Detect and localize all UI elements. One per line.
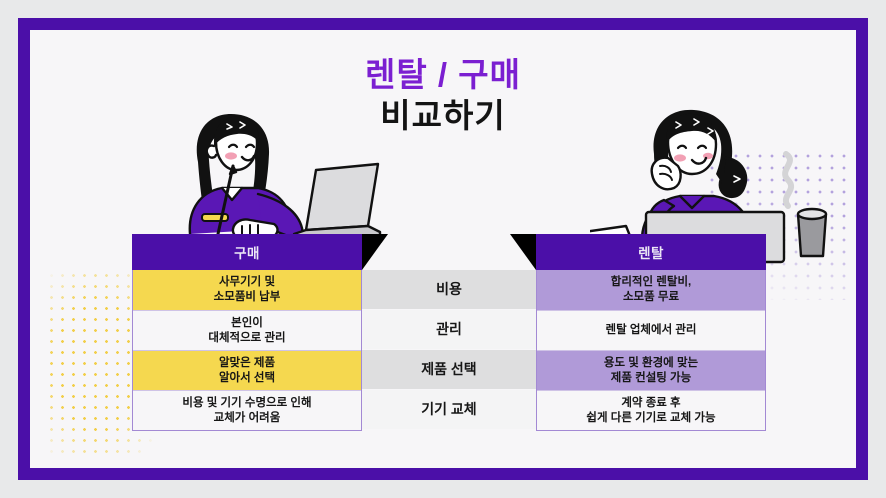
- table-cell-rental-cost: 합리적인 렌탈비, 소모품 무료: [537, 270, 765, 310]
- column-rental: 합리적인 렌탈비, 소모품 무료 렌탈 업체에서 관리 용도 및 환경에 맞는 …: [536, 270, 766, 431]
- title-line-secondary: 비교하기: [30, 95, 856, 136]
- table-cell-rental-select: 용도 및 환경에 맞는 제품 컨설팅 가능: [537, 350, 765, 390]
- slide-content-area: 렌탈 / 구매 비교하기: [30, 30, 856, 468]
- column-criteria: 비용 관리 제품 선택 기기 교체: [362, 270, 536, 431]
- table-criteria-select: 제품 선택: [362, 350, 536, 390]
- table-header-purchase-label: 구매: [132, 234, 362, 270]
- desk-edge-right: [510, 234, 536, 270]
- column-purchase: 사무기기 및 소모품비 납부 본인이 대체적으로 관리 알맞은 제품 알아서 선…: [132, 270, 362, 431]
- table-cell-purchase-select: 알맞은 제품 알아서 선택: [133, 350, 361, 390]
- table-cell-rental-manage: 렌탈 업체에서 관리: [537, 310, 765, 350]
- table-cell-purchase-manage: 본인이 대체적으로 관리: [133, 310, 361, 350]
- table-cell-purchase-replace: 비용 및 기기 수명으로 인해 교체가 어려움: [133, 390, 361, 430]
- table-criteria-cost: 비용: [362, 270, 536, 310]
- table-criteria-manage: 관리: [362, 310, 536, 350]
- table-header-rental: 렌탈: [536, 234, 766, 270]
- table-criteria-replace: 기기 교체: [362, 390, 536, 430]
- title-line-primary: 렌탈 / 구매: [30, 56, 856, 95]
- page-title: 렌탈 / 구매 비교하기: [30, 56, 856, 136]
- table-cell-rental-replace: 계약 종료 후 쉽게 다른 기기로 교체 가능: [537, 390, 765, 430]
- table-header-rental-label: 렌탈: [536, 234, 766, 270]
- comparison-table: 사무기기 및 소모품비 납부 본인이 대체적으로 관리 알맞은 제품 알아서 선…: [132, 270, 766, 431]
- slide-canvas: 렌탈 / 구매 비교하기: [0, 0, 886, 498]
- slide-border-frame: 렌탈 / 구매 비교하기: [18, 18, 868, 480]
- table-cell-purchase-cost: 사무기기 및 소모품비 납부: [133, 270, 361, 310]
- table-header-purchase: 구매: [132, 234, 362, 270]
